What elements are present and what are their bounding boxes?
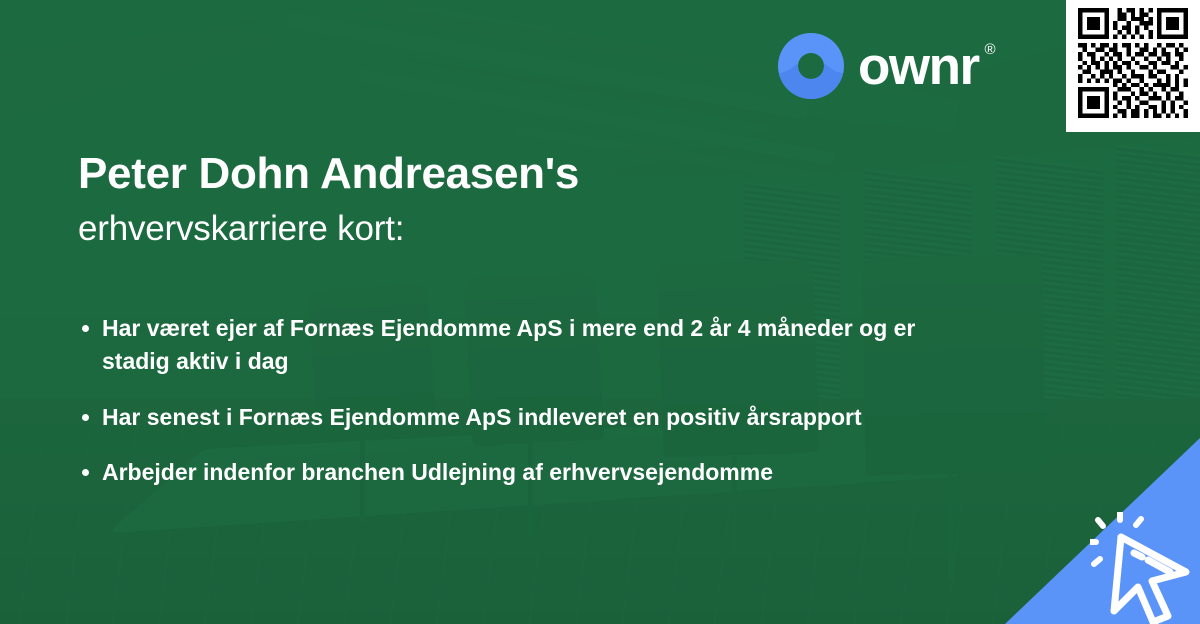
- click-cursor-icon: [1090, 512, 1200, 624]
- list-item-text: Har senest i Fornæs Ejendomme ApS indlev…: [102, 404, 862, 430]
- list-item: Har senest i Fornæs Ejendomme ApS indlev…: [78, 401, 958, 434]
- ownr-wordmark-text: ownr: [858, 37, 979, 96]
- ownr-circle-mark: [778, 33, 844, 99]
- headline-subtitle: erhvervskarriere kort:: [78, 206, 978, 252]
- list-item: Har været ejer af Fornæs Ejendomme ApS i…: [78, 312, 958, 379]
- qr-code[interactable]: [1066, 0, 1200, 132]
- ownr-logo[interactable]: ownr®: [778, 33, 979, 99]
- list-item-text: Arbejder indenfor branchen Udlejning af …: [102, 459, 773, 485]
- qr-code-image: [1078, 8, 1188, 118]
- list-item: Arbejder indenfor branchen Udlejning af …: [78, 456, 958, 489]
- career-card: ownr®: [0, 0, 1200, 624]
- registered-trademark-icon: ®: [985, 42, 996, 57]
- ownr-wordmark: ownr®: [858, 40, 979, 93]
- list-item-text: Har været ejer af Fornæs Ejendomme ApS i…: [102, 315, 915, 374]
- page-title: Peter Dohn Andreasen's erhvervskarriere …: [78, 148, 978, 251]
- career-highlights-list: Har været ejer af Fornæs Ejendomme ApS i…: [78, 312, 958, 511]
- headline-name: Peter Dohn Andreasen's: [78, 148, 978, 200]
